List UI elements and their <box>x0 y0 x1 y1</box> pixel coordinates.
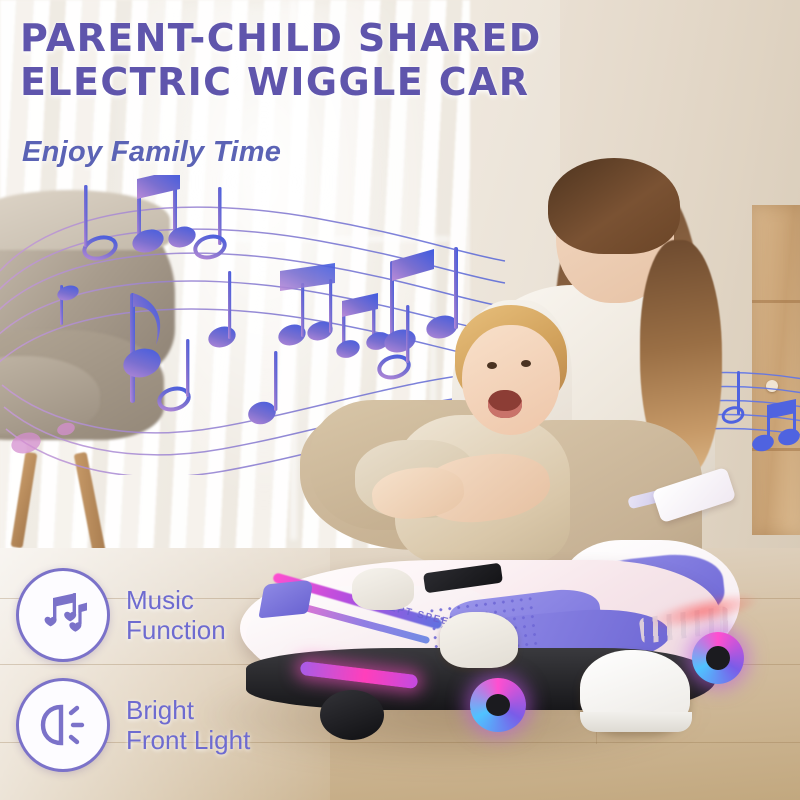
music-label-line-1: Music <box>126 585 226 615</box>
child-mouth <box>488 390 522 418</box>
music-badge-label: Music Function <box>126 585 226 645</box>
cabinet-line <box>752 300 800 303</box>
advertisement-image: CONCEPT SPEED PARENT-CHILD SHARED ELECTR… <box>0 0 800 800</box>
headlight-icon <box>37 699 89 751</box>
music-badge-circle <box>16 568 110 662</box>
subtitle: Enjoy Family Time <box>22 136 281 169</box>
headline-line-2: ELECTRIC WIGGLE CAR <box>20 60 660 104</box>
music-label-line-2: Function <box>126 615 226 645</box>
page-title: PARENT-CHILD SHARED ELECTRIC WIGGLE CAR <box>20 16 660 104</box>
car-side-fin <box>258 580 313 619</box>
woman-hair-top <box>548 158 680 254</box>
car-wheel-front <box>320 690 384 740</box>
light-label-line-1: Bright <box>126 695 250 725</box>
music-note-icon <box>37 589 89 641</box>
car-wheel-hub-rear <box>706 646 730 670</box>
child-shoe-right <box>440 612 518 668</box>
light-badge-circle <box>16 678 110 772</box>
headline-line-1: PARENT-CHILD SHARED <box>20 16 660 60</box>
child-eye <box>487 362 497 369</box>
child-head <box>462 325 560 435</box>
feature-badge-music: Music Function <box>16 568 226 662</box>
light-badge-label: Bright Front Light <box>126 695 250 755</box>
child-shoe-left <box>352 568 414 610</box>
feature-badge-light: Bright Front Light <box>16 678 250 772</box>
car-wheel-hub <box>486 694 510 716</box>
woman-shoe-sole <box>580 712 692 732</box>
light-label-line-2: Front Light <box>126 725 250 755</box>
child-eye <box>521 360 531 367</box>
